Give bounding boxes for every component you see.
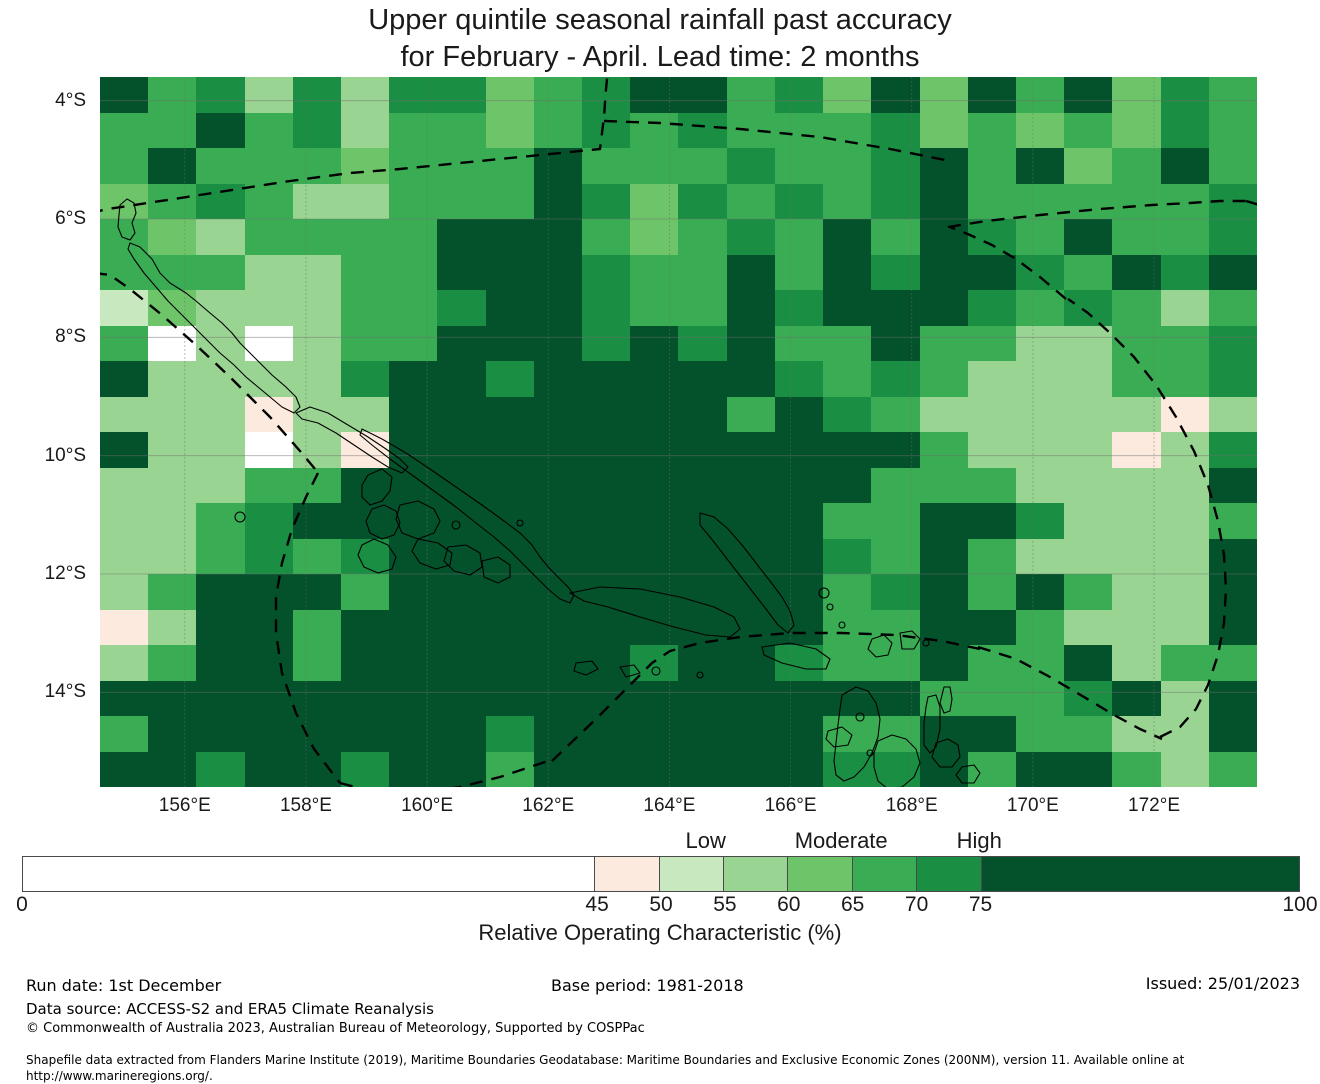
heatmap-cell (245, 503, 293, 539)
heatmap-cell (920, 610, 968, 646)
heatmap-cell (727, 397, 775, 433)
heatmap-cell (823, 397, 871, 433)
run-date: Run date: 1st December (26, 976, 221, 995)
heatmap-cell (100, 255, 148, 291)
heatmap-cell (341, 468, 389, 504)
heatmap-cell (630, 468, 678, 504)
heatmap-cell (727, 468, 775, 504)
heatmap-cell (871, 432, 919, 468)
heatmap-cell (1161, 361, 1209, 397)
heatmap-cell (1016, 219, 1064, 255)
heatmap-cell (196, 113, 244, 149)
heatmap-cell (148, 752, 196, 788)
heatmap-cell (871, 255, 919, 291)
x-axis-tick-label: 166°E (731, 795, 851, 817)
heatmap-cell (196, 184, 244, 220)
heatmap-cell (823, 113, 871, 149)
heatmap-cell (148, 148, 196, 184)
heatmap-cell (486, 148, 534, 184)
heatmap-cell (678, 468, 726, 504)
heatmap-cell (100, 219, 148, 255)
heatmap-cell (678, 219, 726, 255)
heatmap-cell (1209, 397, 1257, 433)
heatmap-cell (1209, 574, 1257, 610)
heatmap-cell (582, 610, 630, 646)
heatmap-cell (389, 219, 437, 255)
heatmap-cell (871, 361, 919, 397)
heatmap-cell (341, 148, 389, 184)
heatmap-cell (389, 610, 437, 646)
y-axis-tick-label: 6°S (55, 208, 86, 230)
heatmap-cell (1161, 503, 1209, 539)
heatmap-cell (1064, 716, 1112, 752)
heatmap-cell (968, 255, 1016, 291)
heatmap-cell (968, 219, 1016, 255)
colorbar-band (594, 857, 658, 891)
heatmap-cell (293, 432, 341, 468)
colorbar-tick-label: 0 (16, 893, 28, 917)
heatmap-cell (245, 290, 293, 326)
heatmap-cell (823, 432, 871, 468)
heatmap-cell (823, 219, 871, 255)
heatmap-cell (437, 77, 485, 113)
heatmap-cell (534, 432, 582, 468)
heatmap-cell (341, 503, 389, 539)
heatmap-cell (582, 184, 630, 220)
heatmap-cell (920, 255, 968, 291)
x-axis-tick-label: 168°E (852, 795, 972, 817)
heatmap-cell (100, 610, 148, 646)
heatmap-cell (775, 219, 823, 255)
heatmap-cell (1161, 255, 1209, 291)
heatmap-cell (1209, 610, 1257, 646)
heatmap-cell (148, 219, 196, 255)
heatmap-cell (920, 539, 968, 575)
heatmap-cell (1016, 752, 1064, 788)
heatmap-cell (1016, 255, 1064, 291)
heatmap-cell (534, 716, 582, 752)
heatmap-cell (968, 752, 1016, 788)
heatmap-cell (486, 716, 534, 752)
heatmap-cell (920, 574, 968, 610)
heatmap-cell (871, 468, 919, 504)
heatmap-cell (1209, 539, 1257, 575)
heatmap-cell (823, 77, 871, 113)
heatmap-cell (678, 148, 726, 184)
heatmap-cell (823, 574, 871, 610)
heatmap-cell (196, 361, 244, 397)
heatmap-cell (341, 255, 389, 291)
heatmap-cell (1064, 681, 1112, 717)
colorbar-category-labels: LowModerateHigh (0, 828, 1320, 854)
heatmap-cell (534, 610, 582, 646)
heatmap-cell (582, 397, 630, 433)
heatmap-cell (341, 113, 389, 149)
heatmap-cell (100, 681, 148, 717)
heatmap-cell (148, 503, 196, 539)
heatmap-cell (341, 361, 389, 397)
heatmap-cell (871, 113, 919, 149)
heatmap-cell (727, 184, 775, 220)
heatmap-cell (1112, 503, 1160, 539)
heatmap-cell (534, 539, 582, 575)
heatmap-cell (920, 503, 968, 539)
heatmap-cell (389, 432, 437, 468)
heatmap-cell (293, 148, 341, 184)
heatmap-cell (823, 716, 871, 752)
heatmap-cell (582, 219, 630, 255)
heatmap-cell (534, 77, 582, 113)
heatmap-cell (871, 503, 919, 539)
heatmap-cell (148, 645, 196, 681)
heatmap-cell (871, 574, 919, 610)
heatmap-cell (389, 716, 437, 752)
heatmap-cell (1209, 113, 1257, 149)
heatmap-cell (1209, 219, 1257, 255)
heatmap-cell (534, 219, 582, 255)
heatmap-cell (920, 77, 968, 113)
heatmap-cell (341, 645, 389, 681)
heatmap-cell (1064, 752, 1112, 788)
heatmap-cell (100, 645, 148, 681)
heatmap-cell (727, 503, 775, 539)
heatmap-cell (486, 645, 534, 681)
heatmap-cell (775, 574, 823, 610)
heatmap-cell (534, 361, 582, 397)
heatmap-cell (293, 397, 341, 433)
heatmap-cell (871, 539, 919, 575)
copyright-notice: © Commonwealth of Australia 2023, Austra… (26, 1021, 645, 1036)
heatmap-cell (920, 148, 968, 184)
heatmap-cell (293, 503, 341, 539)
heatmap-cell (582, 361, 630, 397)
page-title: Upper quintile seasonal rainfall past ac… (0, 2, 1320, 76)
colorbar-category-label: Low (686, 828, 726, 854)
heatmap-cell (486, 290, 534, 326)
heatmap-cell (245, 716, 293, 752)
heatmap-cell (775, 752, 823, 788)
heatmap-cell (630, 290, 678, 326)
heatmap-cell (341, 716, 389, 752)
heatmap-cell (534, 148, 582, 184)
heatmap-cell (871, 645, 919, 681)
heatmap-cell (823, 539, 871, 575)
heatmap-cell (341, 77, 389, 113)
heatmap-cell (968, 468, 1016, 504)
heatmap-cell (1016, 148, 1064, 184)
heatmap-cell (968, 539, 1016, 575)
heatmap-cell (1016, 77, 1064, 113)
heatmap-cell (582, 326, 630, 362)
heatmap-cell (1209, 716, 1257, 752)
heatmap-cell (1112, 681, 1160, 717)
heatmap-cell (486, 574, 534, 610)
heatmap-cell (389, 113, 437, 149)
heatmap-cell (148, 716, 196, 752)
heatmap-cell (486, 610, 534, 646)
heatmap-cell (678, 290, 726, 326)
heatmap-cell (1112, 432, 1160, 468)
heatmap-cell (1209, 468, 1257, 504)
heatmap-cell (1161, 752, 1209, 788)
heatmap-cell (1209, 361, 1257, 397)
heatmap-cell (534, 645, 582, 681)
heatmap-cell (196, 326, 244, 362)
heatmap-cell (341, 290, 389, 326)
heatmap-cell (293, 326, 341, 362)
colorbar-band (852, 857, 916, 891)
colorbar-tick-label: 50 (649, 893, 672, 917)
heatmap-cell (920, 397, 968, 433)
heatmap-cell (534, 574, 582, 610)
heatmap-cell (1064, 361, 1112, 397)
heatmap-cell (968, 574, 1016, 610)
heatmap-cell (678, 77, 726, 113)
heatmap-cell (1112, 148, 1160, 184)
heatmap-cell (823, 645, 871, 681)
heatmap-cell (100, 574, 148, 610)
heatmap-cell (871, 752, 919, 788)
heatmap-cell (630, 503, 678, 539)
heatmap-cell (293, 290, 341, 326)
heatmap-cell (486, 113, 534, 149)
heatmap-cell (871, 326, 919, 362)
heatmap-cell (341, 610, 389, 646)
heatmap-cell (196, 397, 244, 433)
heatmap-cell (775, 645, 823, 681)
heatmap-cell (148, 681, 196, 717)
heatmap-cell (582, 77, 630, 113)
heatmap-cell (341, 397, 389, 433)
x-axis-tick-label: 160°E (367, 795, 487, 817)
heatmap-cell (293, 681, 341, 717)
x-axis-tick-label: 170°E (973, 795, 1093, 817)
heatmap-cell (437, 468, 485, 504)
heatmap-cell (245, 574, 293, 610)
heatmap-cell (245, 752, 293, 788)
heatmap-cell (920, 326, 968, 362)
colorbar-band (723, 857, 787, 891)
heatmap-cell (389, 148, 437, 184)
heatmap-cell (920, 645, 968, 681)
heatmap-cell (630, 681, 678, 717)
heatmap-cell (437, 432, 485, 468)
heatmap-cell (630, 77, 678, 113)
heatmap-cell (920, 219, 968, 255)
heatmap-cell (293, 255, 341, 291)
heatmap-cell (823, 255, 871, 291)
heatmap-cell (582, 468, 630, 504)
heatmap-cell (920, 432, 968, 468)
heatmap-cell (341, 539, 389, 575)
heatmap-cell (823, 610, 871, 646)
heatmap-cell (1112, 539, 1160, 575)
heatmap-cell (100, 503, 148, 539)
heatmap-cell (148, 610, 196, 646)
heatmap-cell (1161, 184, 1209, 220)
heatmap-cell (871, 716, 919, 752)
heatmap-cell (1112, 397, 1160, 433)
heatmap-cell (148, 290, 196, 326)
heatmap-cell (968, 361, 1016, 397)
heatmap-cell (1209, 681, 1257, 717)
heatmap-cell (678, 539, 726, 575)
heatmap-cell (1112, 184, 1160, 220)
heatmap-cell (582, 752, 630, 788)
heatmap-cell (968, 113, 1016, 149)
heatmap-cell (727, 326, 775, 362)
heatmap-cell (1064, 645, 1112, 681)
heatmap-cell (1161, 326, 1209, 362)
heatmap-cell (245, 397, 293, 433)
heatmap-cell (582, 645, 630, 681)
heatmap-cell (630, 716, 678, 752)
heatmap-cell (1161, 681, 1209, 717)
heatmap-cell (630, 255, 678, 291)
heatmap-cell (196, 432, 244, 468)
heatmap-cell (196, 752, 244, 788)
heatmap-cell (775, 148, 823, 184)
heatmap-cell (871, 681, 919, 717)
heatmap-cell (630, 184, 678, 220)
heatmap-cell (1064, 290, 1112, 326)
heatmap-cell (534, 290, 582, 326)
heatmap-cell (871, 397, 919, 433)
heatmap-cell (196, 503, 244, 539)
heatmap-cell (775, 681, 823, 717)
heatmap-cell (678, 326, 726, 362)
heatmap-cell (148, 326, 196, 362)
heatmap-cell (389, 361, 437, 397)
heatmap-cell (293, 184, 341, 220)
heatmap-cell (775, 326, 823, 362)
colorbar-band (787, 857, 851, 891)
heatmap-cell (1064, 255, 1112, 291)
heatmap-cell (1161, 645, 1209, 681)
heatmap-cell (245, 610, 293, 646)
heatmap-cell (389, 290, 437, 326)
heatmap-cell (293, 219, 341, 255)
heatmap-cell (823, 752, 871, 788)
heatmap-cell (630, 645, 678, 681)
heatmap-cell (486, 219, 534, 255)
heatmap-cell (245, 184, 293, 220)
heatmap-cell (148, 255, 196, 291)
heatmap-cell (486, 752, 534, 788)
heatmap-cell (534, 184, 582, 220)
heatmap-cell (968, 503, 1016, 539)
heatmap-cell (389, 326, 437, 362)
x-axis-tick-label: 164°E (609, 795, 729, 817)
heatmap-cell (534, 468, 582, 504)
heatmap-cell (1161, 539, 1209, 575)
heatmap-cell (630, 574, 678, 610)
heatmap-cell (389, 539, 437, 575)
heatmap-cell (678, 752, 726, 788)
heatmap-cell (486, 361, 534, 397)
footer: Run date: 1st December Base period: 1981… (0, 968, 1320, 1080)
heatmap-cell (968, 645, 1016, 681)
colorbar-band (23, 857, 594, 891)
heatmap-cell (486, 77, 534, 113)
y-axis-tick-label: 10°S (45, 445, 86, 467)
heatmap-cell (871, 184, 919, 220)
heatmap-cell (1112, 290, 1160, 326)
heatmap-cell (678, 716, 726, 752)
heatmap-cell (1209, 432, 1257, 468)
heatmap-cell (437, 113, 485, 149)
heatmap-cell (100, 113, 148, 149)
heatmap-cell (389, 397, 437, 433)
heatmap-cell (100, 148, 148, 184)
heatmap-cell (245, 148, 293, 184)
heatmap-cell (727, 645, 775, 681)
heatmap-cell (1209, 645, 1257, 681)
heatmap-cell (582, 574, 630, 610)
heatmap-cell (486, 681, 534, 717)
heatmap-cell (100, 326, 148, 362)
colorbar-title: Relative Operating Characteristic (%) (0, 920, 1320, 946)
heatmap-cell (196, 255, 244, 291)
heatmap-cell (1064, 77, 1112, 113)
heatmap-cell (630, 113, 678, 149)
heatmap-cell (1016, 574, 1064, 610)
heatmap-cell (1016, 397, 1064, 433)
colorbar-band (659, 857, 723, 891)
heatmap-cell (100, 77, 148, 113)
heatmap-cell (293, 468, 341, 504)
heatmap-cell (1161, 610, 1209, 646)
heatmap-cell (341, 574, 389, 610)
heatmap-cell (1016, 184, 1064, 220)
heatmap-cell (437, 681, 485, 717)
x-axis-tick-label: 156°E (125, 795, 245, 817)
colorbar-tick-label: 65 (841, 893, 864, 917)
heatmap-cell (437, 361, 485, 397)
heatmap-cell (148, 432, 196, 468)
heatmap-cell (630, 432, 678, 468)
heatmap-cell (678, 432, 726, 468)
heatmap-cell (389, 645, 437, 681)
heatmap-cell (437, 148, 485, 184)
heatmap-cell (196, 468, 244, 504)
heatmap-cell (1161, 432, 1209, 468)
heatmap-cell (775, 113, 823, 149)
heatmap-cell (678, 255, 726, 291)
heatmap-cell (389, 255, 437, 291)
heatmap-cell (1016, 610, 1064, 646)
heatmap-cell (678, 610, 726, 646)
heatmap-cell (293, 574, 341, 610)
heatmap-cell (534, 752, 582, 788)
heatmap-cell (1112, 361, 1160, 397)
heatmap-cell (245, 255, 293, 291)
heatmap-cell (534, 255, 582, 291)
heatmap-cell (1161, 148, 1209, 184)
heatmap-cell (437, 184, 485, 220)
heatmap-cell (341, 326, 389, 362)
heatmap-cell (1209, 752, 1257, 788)
heatmap-cell (293, 610, 341, 646)
heatmap-cell (678, 184, 726, 220)
heatmap-cell (968, 681, 1016, 717)
heatmap-cell (727, 148, 775, 184)
heatmap-cell (1209, 503, 1257, 539)
heatmap-cell (389, 681, 437, 717)
heatmap-cell (293, 645, 341, 681)
heatmap-cell (100, 468, 148, 504)
heatmap-cell (630, 361, 678, 397)
